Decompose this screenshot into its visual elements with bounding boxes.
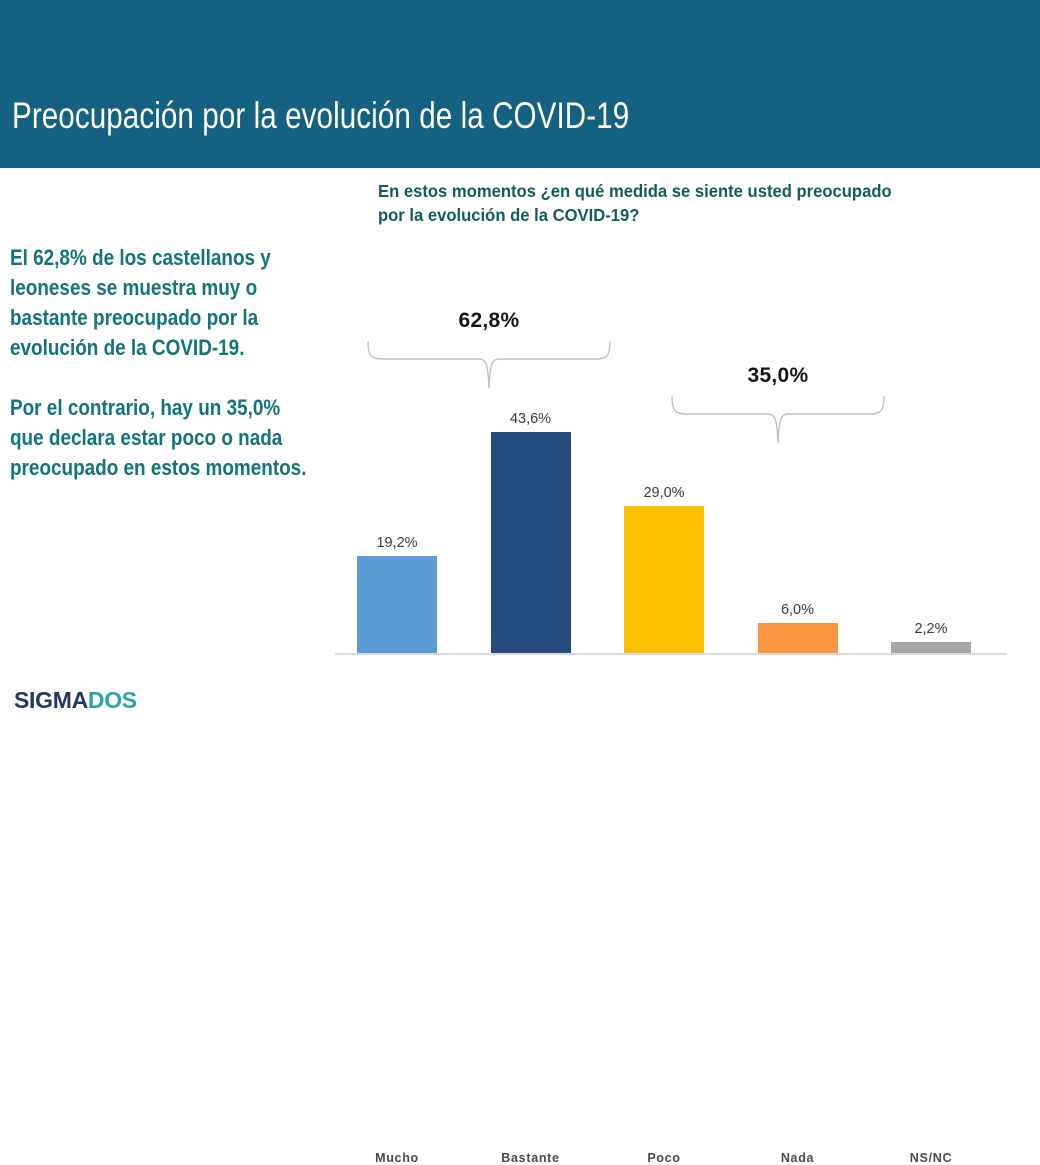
curly-brace-icon-1 xyxy=(366,341,612,390)
chart-area: En estos momentos ¿en qué medida se sien… xyxy=(330,168,1040,720)
bar-value-poco: 29,0% xyxy=(606,485,722,501)
logo-part-dos: DOS xyxy=(88,687,137,713)
bar-value-bastante: 43,6% xyxy=(473,411,589,427)
bar-bastante[interactable] xyxy=(491,432,571,653)
bar-mucho[interactable] xyxy=(357,556,437,653)
bar-value-mucho: 19,2% xyxy=(339,535,455,551)
sigmados-logo: SIGMADOS xyxy=(14,687,137,714)
x-axis-line xyxy=(335,653,1007,655)
curly-brace-icon-2 xyxy=(670,396,886,445)
logo-part-sigma: SIGMA xyxy=(14,687,88,713)
bar-value-nada: 6,0% xyxy=(740,602,856,618)
bar-nada[interactable] xyxy=(758,623,838,653)
sidebar-commentary: El 62,8% de los castellanos y leoneses s… xyxy=(10,243,311,483)
category-label-nada: Nada xyxy=(740,1138,856,1165)
bar-poco[interactable] xyxy=(624,506,704,653)
sidebar-paragraph-1: El 62,8% de los castellanos y leoneses s… xyxy=(10,243,311,363)
bar-value-nsnc: 2,2% xyxy=(873,621,989,637)
annotation-bracket-62-8: 62,8% xyxy=(366,309,612,390)
annotation-label-35-0: 35,0% xyxy=(670,364,886,388)
category-label-mucho: Mucho xyxy=(339,1138,455,1165)
annotation-bracket-35-0: 35,0% xyxy=(670,364,886,445)
category-label-poco: Poco xyxy=(606,1138,722,1165)
annotation-label-62-8: 62,8% xyxy=(366,309,612,333)
page-title: Preocupación por la evolución de la COVI… xyxy=(12,94,629,138)
header-band xyxy=(0,0,1040,168)
category-label-bastante: Bastante xyxy=(473,1138,589,1165)
sidebar-paragraph-2: Por el contrario, hay un 35,0% que decla… xyxy=(10,393,311,483)
category-label-nsnc: NS/NC xyxy=(873,1138,989,1165)
bar-nsnc[interactable] xyxy=(891,642,971,653)
bar-chart-plot: 19,2% Mucho 43,6% Bastante 29,0% Poco 6,… xyxy=(330,168,1040,720)
